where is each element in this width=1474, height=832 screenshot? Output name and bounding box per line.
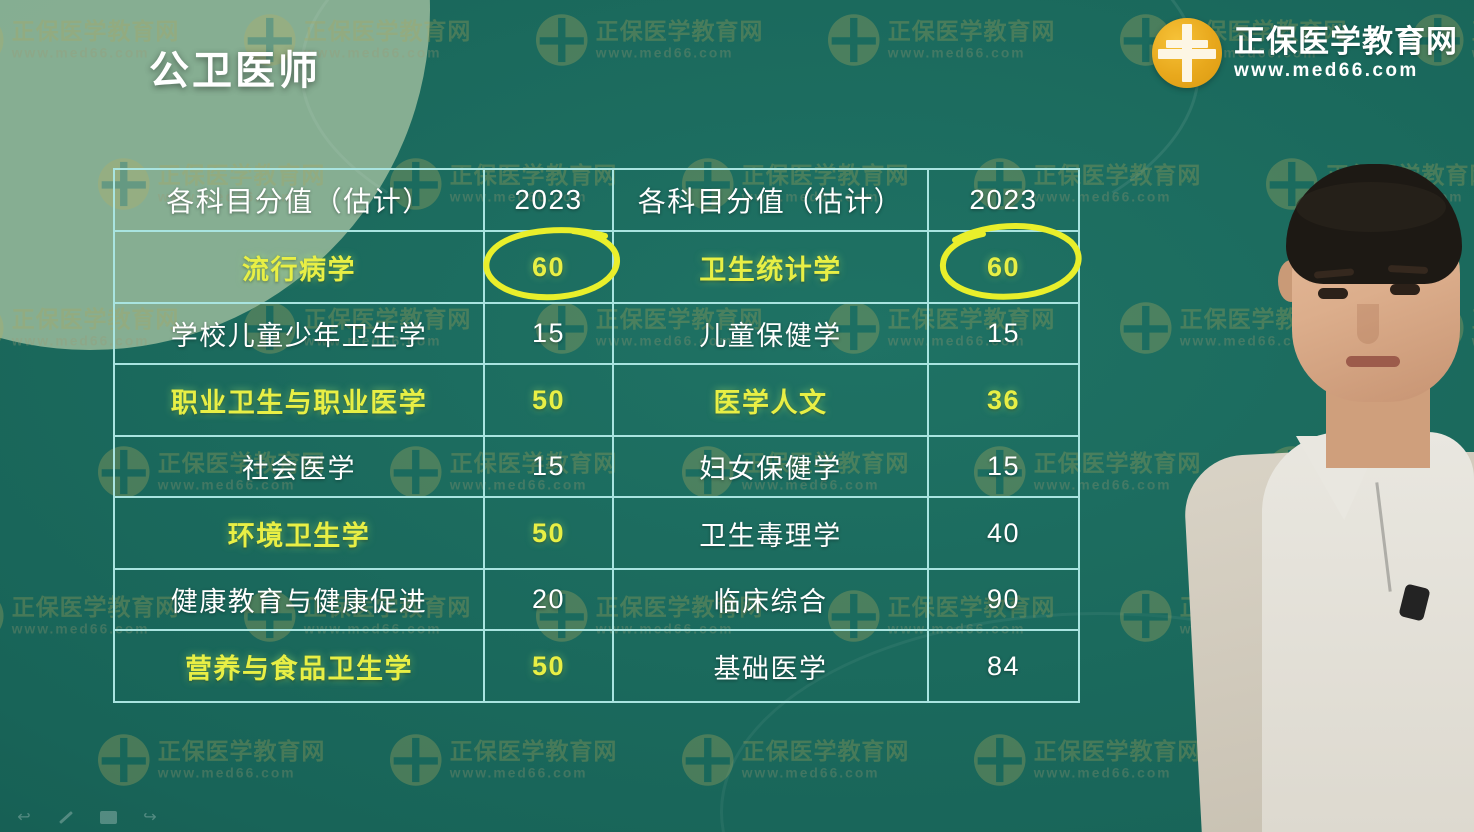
subject-cell-right: 医学人文	[613, 364, 928, 436]
score-cell-left: 20	[484, 569, 613, 630]
subject-cell-right: 妇女保健学	[613, 436, 928, 497]
table-row: 环境卫生学50卫生毒理学40	[114, 497, 1079, 569]
subject-score-table: 各科目分值（估计）2023各科目分值（估计）2023流行病学60卫生统计学60学…	[113, 168, 1080, 703]
table-header-row: 各科目分值（估计）2023各科目分值（估计）2023	[114, 169, 1079, 231]
subject-cell-left: 流行病学	[114, 231, 484, 303]
score-cell-right: 60	[928, 231, 1079, 303]
brand-text: 正保医学教育网 www.med66.com	[1234, 25, 1458, 82]
cross-bar	[1166, 40, 1208, 48]
subject-cell-right: 儿童保健学	[613, 303, 928, 364]
table-body: 各科目分值（估计）2023各科目分值（估计）2023流行病学60卫生统计学60学…	[114, 169, 1079, 702]
video-lecture-slide: 正保医学教育网www.med66.com正保医学教育网www.med66.com…	[0, 0, 1474, 832]
score-cell-left: 50	[484, 364, 613, 436]
table-row: 健康教育与健康促进20临床综合90	[114, 569, 1079, 630]
score-cell-left: 50	[484, 497, 613, 569]
column-header-2: 各科目分值（估计）	[613, 169, 928, 231]
score-cell-right: 84	[928, 630, 1079, 702]
column-header-3: 2023	[928, 169, 1079, 231]
subject-cell-left: 环境卫生学	[114, 497, 484, 569]
presenter-eye-right	[1390, 284, 1420, 295]
score-cell-right: 90	[928, 569, 1079, 630]
subject-cell-right: 卫生统计学	[613, 231, 928, 303]
column-header-1: 2023	[484, 169, 613, 231]
redo-icon[interactable]: ↪	[140, 808, 160, 826]
subject-cell-right: 基础医学	[613, 630, 928, 702]
presenter-nose	[1357, 304, 1379, 344]
presenter-video-overlay	[1174, 132, 1474, 832]
table-row: 流行病学60卫生统计学60	[114, 231, 1079, 303]
score-cell-left: 60	[484, 231, 613, 303]
score-cell-right: 15	[928, 436, 1079, 497]
presenter-shirt	[1262, 432, 1474, 832]
subject-cell-left: 职业卫生与职业医学	[114, 364, 484, 436]
score-cell-left: 50	[484, 630, 613, 702]
score-cell-left: 15	[484, 303, 613, 364]
score-table-container: 各科目分值（估计）2023各科目分值（估计）2023流行病学60卫生统计学60学…	[113, 168, 1078, 703]
subject-cell-left: 学校儿童少年卫生学	[114, 303, 484, 364]
eraser-icon[interactable]	[98, 808, 118, 826]
pen-icon[interactable]	[56, 808, 76, 826]
subject-cell-left: 健康教育与健康促进	[114, 569, 484, 630]
score-cell-right: 15	[928, 303, 1079, 364]
column-header-0: 各科目分值（估计）	[114, 169, 484, 231]
subject-cell-left: 营养与食品卫生学	[114, 630, 484, 702]
cross-circle-icon	[1152, 18, 1222, 88]
score-cell-right: 36	[928, 364, 1079, 436]
presenter-eye-left	[1318, 288, 1348, 299]
presenter-mouth	[1346, 356, 1400, 367]
page-title: 公卫医师	[149, 38, 321, 96]
table-row: 营养与食品卫生学50基础医学84	[114, 630, 1079, 702]
table-row: 学校儿童少年卫生学15儿童保健学15	[114, 303, 1079, 364]
subject-cell-right: 临床综合	[613, 569, 928, 630]
score-cell-left: 15	[484, 436, 613, 497]
presenter-hair	[1286, 164, 1462, 284]
subject-cell-left: 社会医学	[114, 436, 484, 497]
score-cell-right: 40	[928, 497, 1079, 569]
brand-logo: 正保医学教育网 www.med66.com	[1152, 18, 1458, 88]
table-row: 社会医学15妇女保健学15	[114, 436, 1079, 497]
brand-name: 正保医学教育网	[1234, 25, 1458, 59]
brand-url: www.med66.com	[1234, 61, 1458, 82]
annotation-toolbar[interactable]: ↩ ↪	[14, 808, 160, 826]
subject-cell-right: 卫生毒理学	[613, 497, 928, 569]
table-row: 职业卫生与职业医学50医学人文36	[114, 364, 1079, 436]
undo-icon[interactable]: ↩	[14, 808, 34, 826]
